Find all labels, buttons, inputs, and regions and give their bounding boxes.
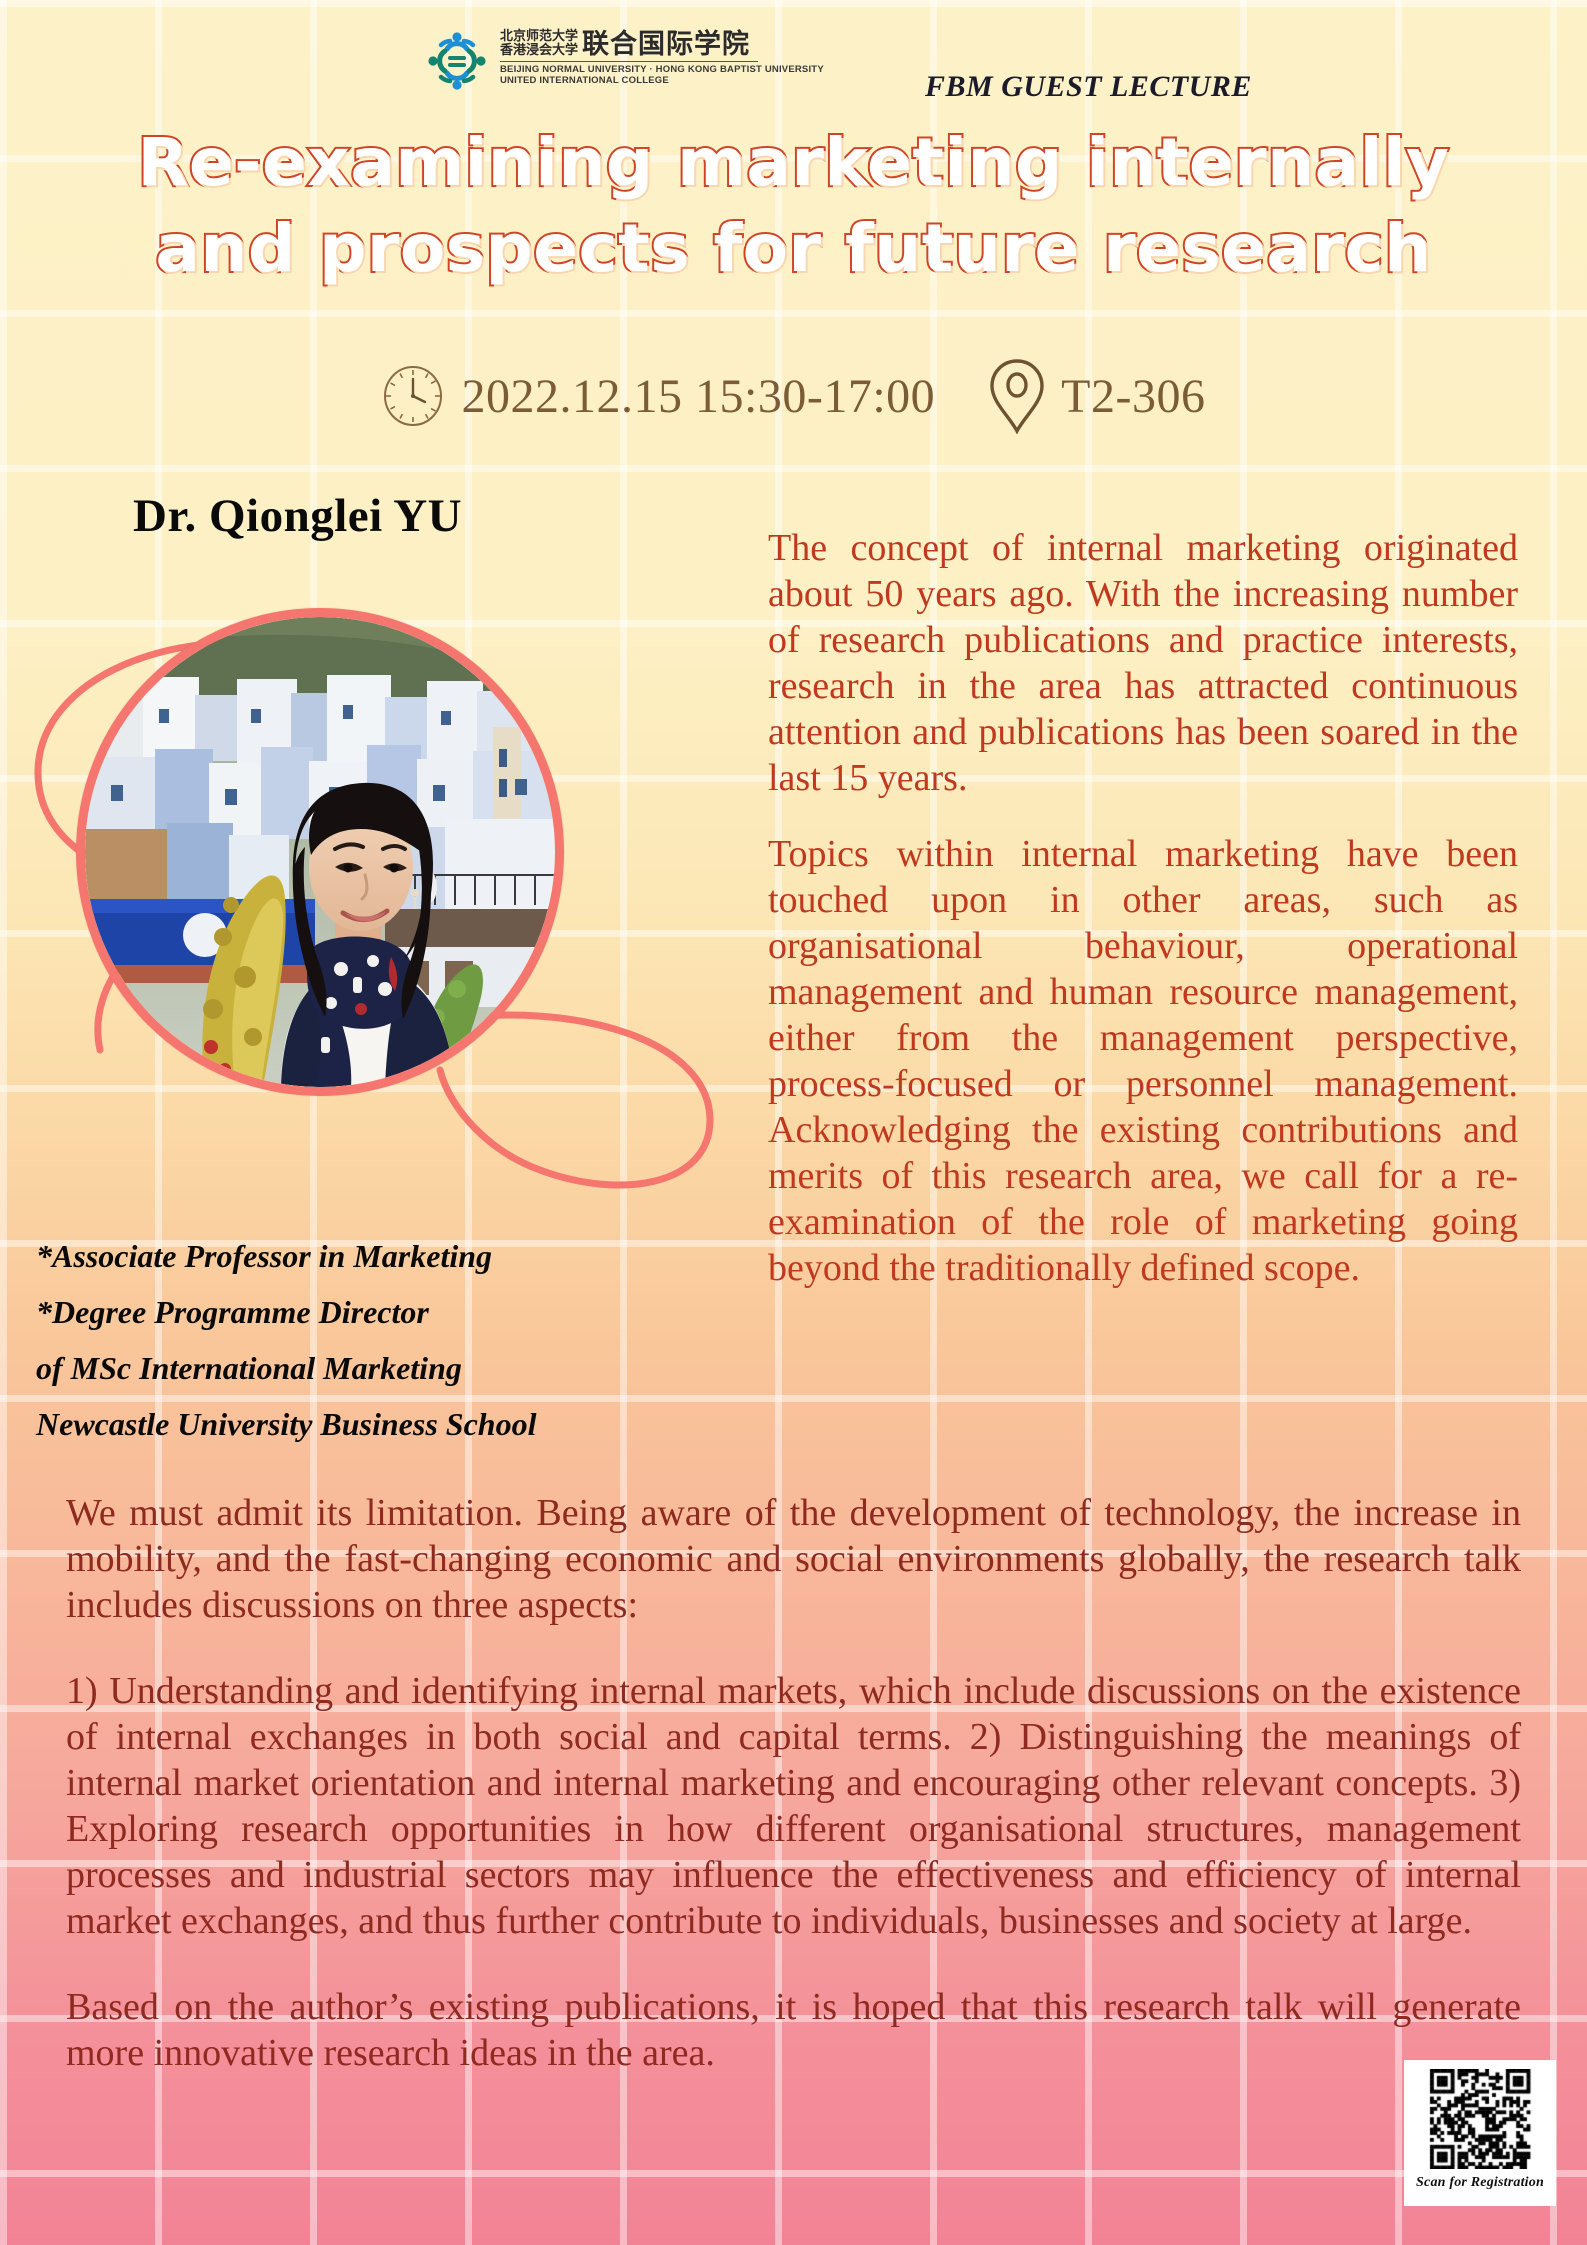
page-title: Re-examining marketing internally and pr… [0, 120, 1587, 292]
location-pin-icon [989, 358, 1045, 434]
abstract-paragraph: Topics within internal marketing have be… [768, 831, 1518, 1291]
abstract-text: The concept of internal marketing origin… [768, 525, 1518, 1291]
speaker-photo [76, 608, 564, 1096]
qr-caption: Scan for Registration [1416, 2175, 1544, 2191]
logo-cn-line1: 北京师范大学 [500, 29, 578, 44]
poster-canvas: 北京师范大学 香港浸会大学 联合国际学院 BEIJING NORMAL UNIV… [0, 0, 1587, 2245]
speaker-name: Dr. Qionglei YU [133, 489, 462, 543]
event-meta-row: 2022.12.15 15:30-17:00 T2-306 [0, 358, 1587, 434]
credential-line: *Degree Programme Director [36, 1284, 726, 1340]
body-paragraph: 1) Understanding and identifying interna… [66, 1668, 1521, 1944]
logo-english-line2: UNITED INTERNATIONAL COLLEGE [500, 75, 824, 86]
body-text: We must admit its limitation. Being awar… [66, 1490, 1521, 2076]
uic-logo-icon [424, 28, 490, 94]
speaker-photo-block [20, 590, 720, 1210]
logo-cn-big: 联合国际学院 [582, 31, 750, 58]
institution-logo: 北京师范大学 香港浸会大学 联合国际学院 BEIJING NORMAL UNIV… [424, 26, 824, 94]
logo-cn-line2: 香港浸会大学 [500, 43, 578, 58]
logo-divider [500, 61, 758, 62]
credential-line: *Associate Professor in Marketing [36, 1228, 726, 1284]
qr-code-icon[interactable] [1421, 2069, 1539, 2169]
event-kicker: FBM GUEST LECTURE [925, 70, 1252, 104]
credential-line: Newcastle University Business School [36, 1396, 726, 1452]
credential-line: of MSc International Marketing [36, 1340, 726, 1396]
logo-english-line1: BEIJING NORMAL UNIVERSITY · HONG KONG BA… [500, 64, 824, 75]
title-line-2: and prospects for future research [0, 206, 1587, 292]
logo-chinese: 北京师范大学 香港浸会大学 联合国际学院 [500, 30, 824, 58]
poster-header: 北京师范大学 香港浸会大学 联合国际学院 BEIJING NORMAL UNIV… [0, 26, 1587, 98]
registration-qr-block[interactable]: Scan for Registration [1404, 2060, 1556, 2206]
body-paragraph: We must admit its limitation. Being awar… [66, 1490, 1521, 1628]
abstract-paragraph: The concept of internal marketing origin… [768, 525, 1518, 801]
event-datetime: 2022.12.15 15:30-17:00 [462, 369, 936, 424]
logo-wordmark: 北京师范大学 香港浸会大学 联合国际学院 BEIJING NORMAL UNIV… [500, 26, 824, 86]
clock-icon [382, 365, 444, 427]
title-line-1: Re-examining marketing internally [0, 120, 1587, 206]
speaker-credentials: *Associate Professor in Marketing *Degre… [36, 1228, 726, 1452]
body-paragraph: Based on the author’s existing publicati… [66, 1984, 1521, 2076]
event-venue: T2-306 [1061, 369, 1205, 424]
